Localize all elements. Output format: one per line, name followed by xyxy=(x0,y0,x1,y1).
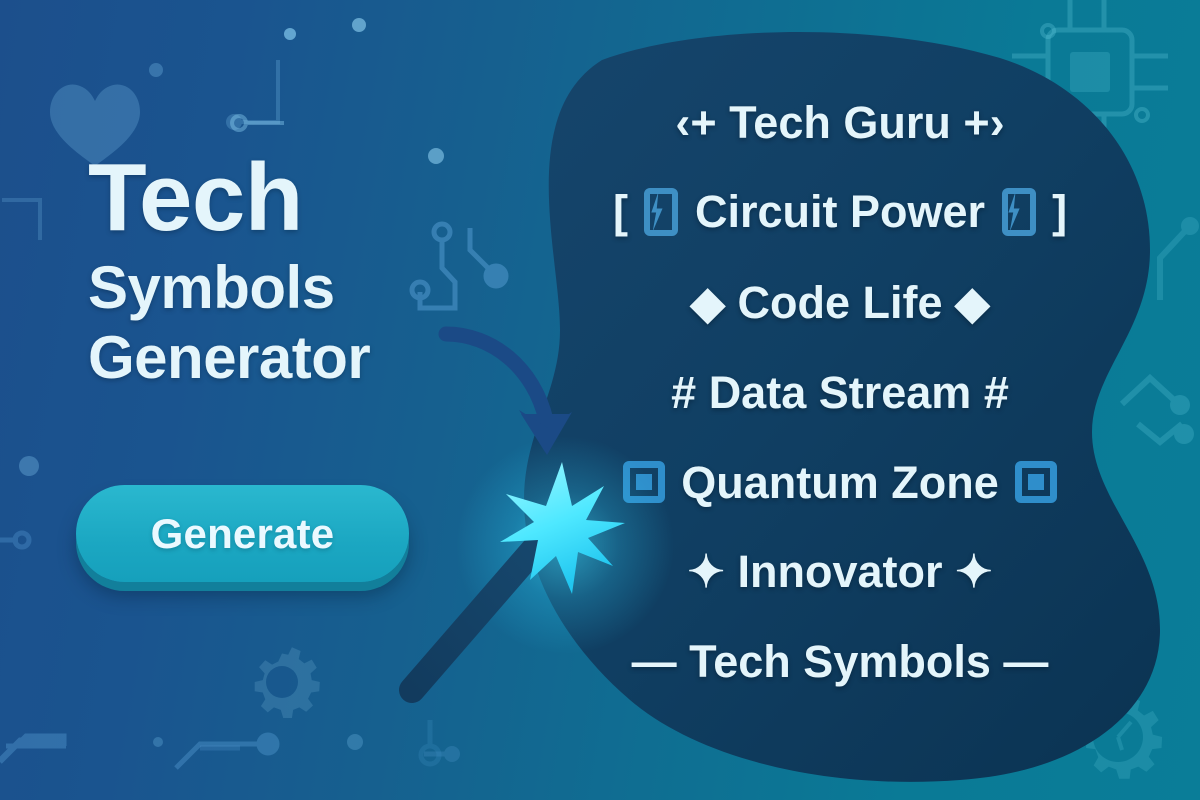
magic-wand-icon xyxy=(412,524,556,690)
curved-arrow-icon xyxy=(446,334,572,455)
wand-graphic xyxy=(0,0,1200,800)
poster-canvas: Tech Symbols Generator Generate ‹+ Tech … xyxy=(0,0,1200,800)
